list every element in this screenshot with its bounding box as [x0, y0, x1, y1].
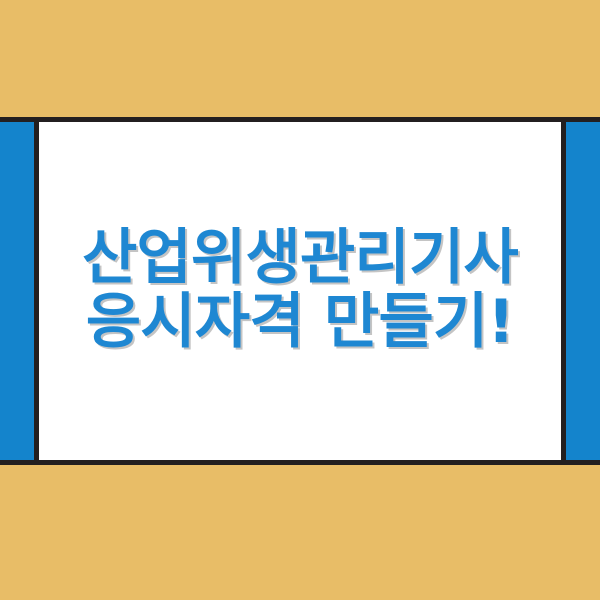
headline-block: 산업위생관리기사 응시자격 만들기! — [82, 227, 518, 354]
headline-line-1: 산업위생관리기사 — [82, 227, 518, 291]
white-content-card: 산업위생관리기사 응시자격 만들기! — [34, 117, 566, 465]
headline-line-2: 응시자격 만들기! — [82, 291, 518, 355]
thumbnail-canvas: 산업위생관리기사 응시자격 만들기! — [0, 0, 600, 600]
